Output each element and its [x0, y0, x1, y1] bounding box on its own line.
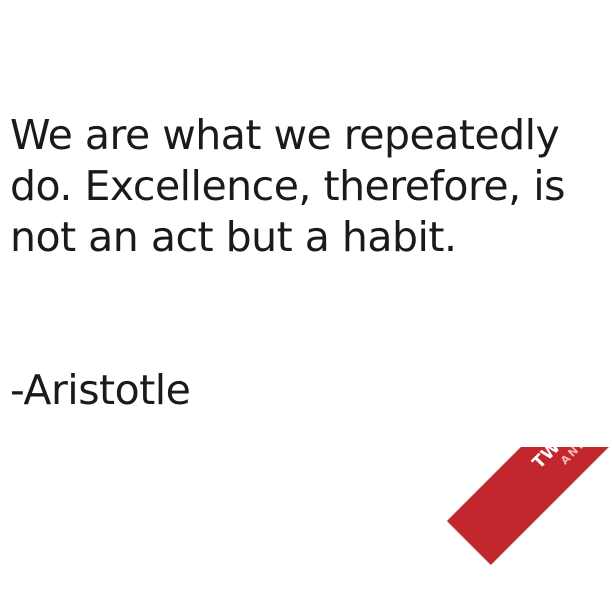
watermark-platform: ANDROID [558, 447, 612, 467]
quote-block: We are what we repeatedly do. Excellence… [10, 8, 608, 518]
watermark-ribbon: TWEEGRAM ANDROID [447, 447, 612, 612]
quote-author: -Aristotle [10, 365, 608, 416]
ribbon-banner: TWEEGRAM ANDROID [447, 447, 612, 565]
quote-image-canvas: We are what we repeatedly do. Excellence… [0, 0, 612, 612]
quote-text: We are what we repeatedly do. Excellence… [10, 110, 608, 263]
ribbon-content: TWEEGRAM ANDROID [447, 447, 612, 565]
